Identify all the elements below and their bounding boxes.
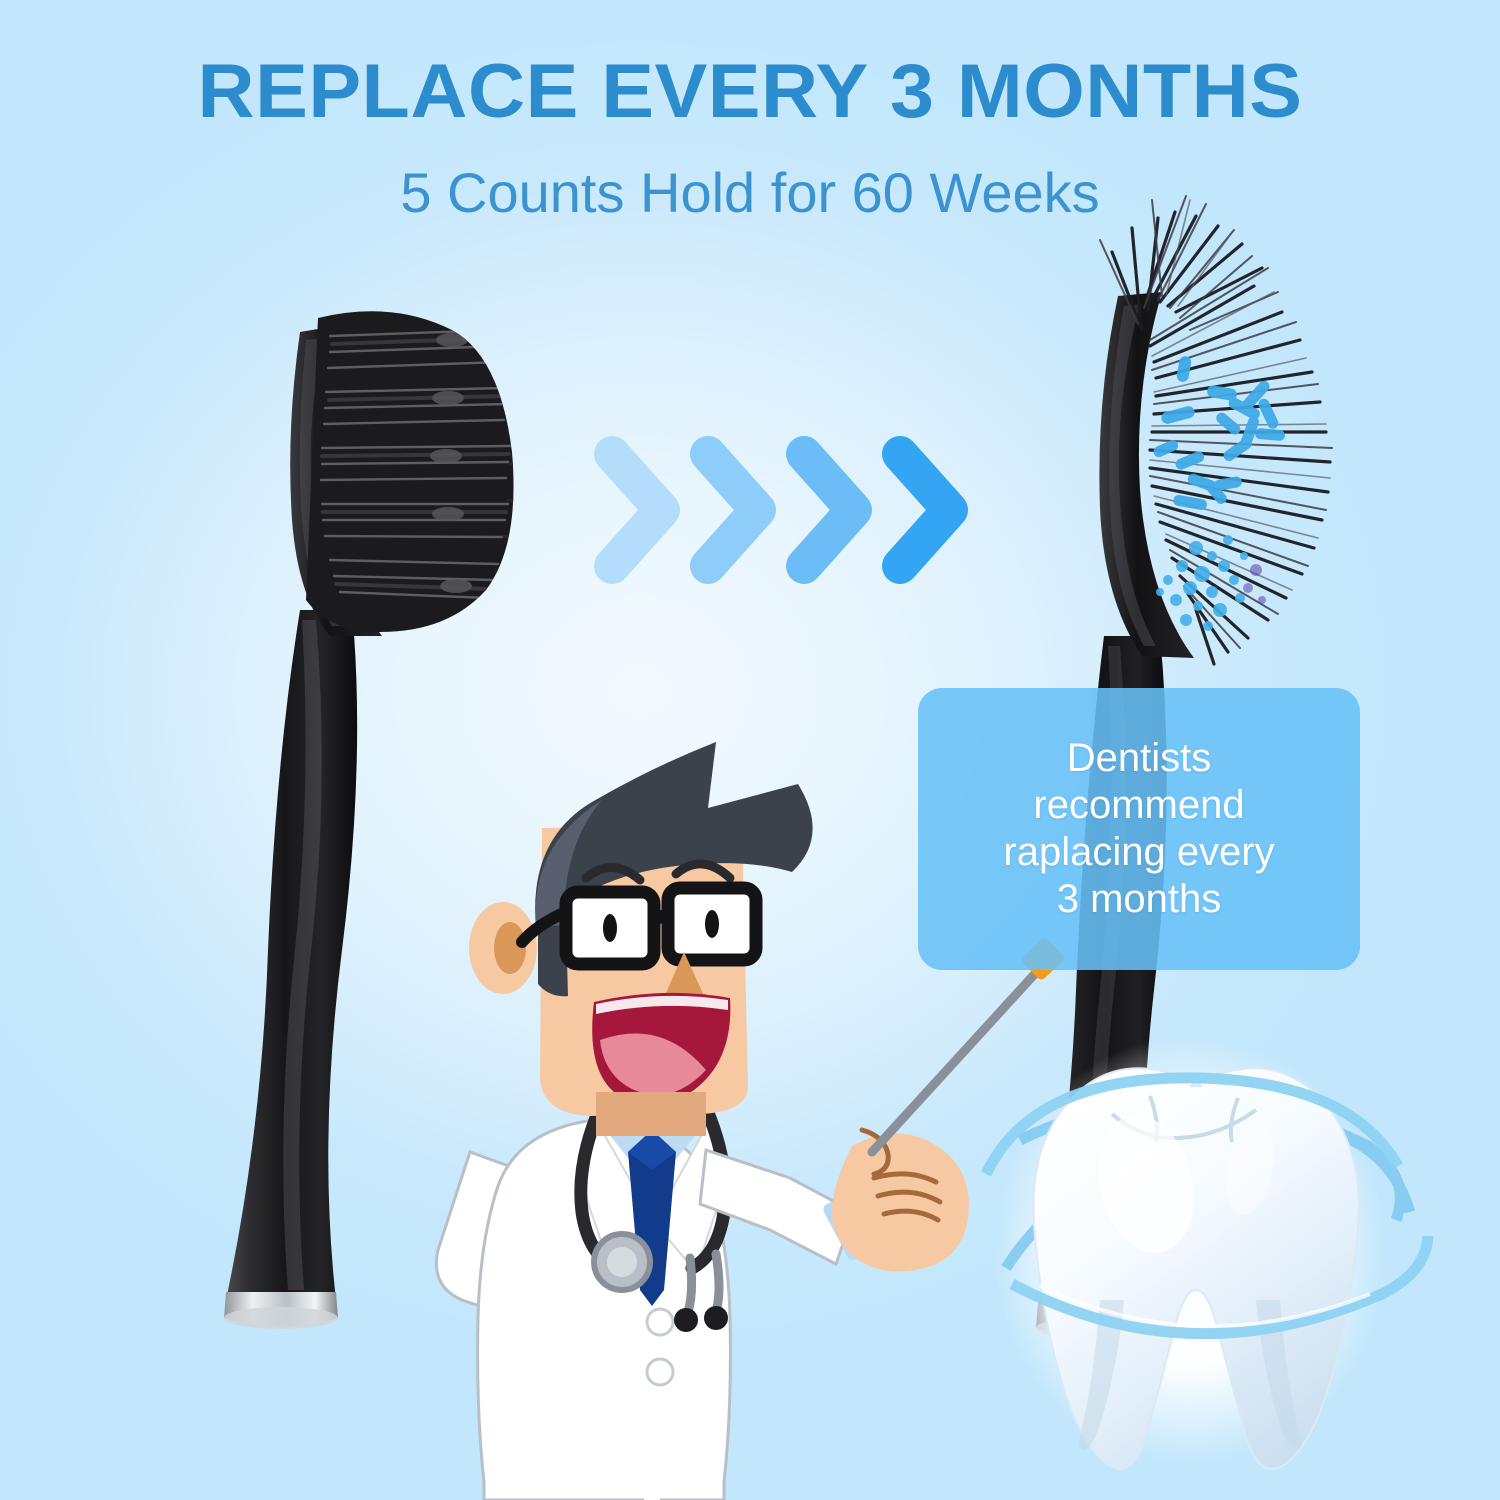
callout-text: Dentists recommend raplacing every 3 mon… [985,735,1292,924]
pointer-shaft [872,966,1042,1152]
callout-line-2: recommend [1033,783,1244,827]
callout-line-4: 3 months [1057,877,1222,921]
callout-line-3: raplacing every [1003,830,1274,874]
dentist-callout-bubble: Dentists recommend raplacing every 3 mon… [918,688,1360,970]
callout-line-1: Dentists [1067,736,1212,780]
infographic-canvas: REPLACE EVERY 3 MONTHS 5 Counts Hold for… [0,0,1500,1500]
